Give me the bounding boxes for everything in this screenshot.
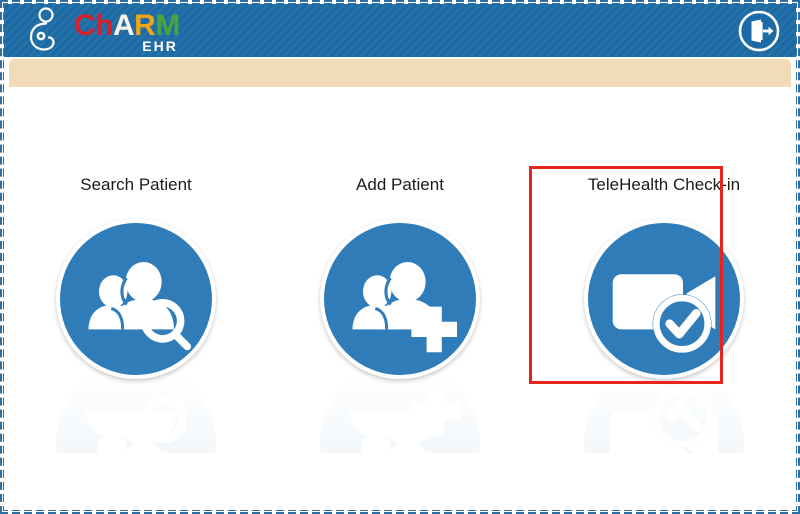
logo-wordmark: ChARM EHR — [74, 11, 180, 53]
tile-label-add-patient: Add Patient — [356, 175, 444, 195]
logo-part-ch: Ch — [74, 9, 113, 42]
tile-label-telehealth-checkin: TeleHealth Check-in — [588, 175, 740, 195]
tile-grid: Search Patient — [4, 87, 796, 447]
accent-strip — [9, 59, 791, 87]
logo-part-a: A — [113, 9, 134, 42]
tile-icon-search-patient-wrap[interactable] — [56, 219, 216, 379]
app-logo[interactable]: ChARM EHR — [26, 6, 180, 54]
tile-telehealth-checkin[interactable]: TeleHealth Check-in — [532, 87, 796, 447]
main-content: Search Patient — [4, 87, 796, 510]
tile-search-patient[interactable]: Search Patient — [4, 87, 268, 447]
logout-door-arrow-icon — [738, 10, 780, 52]
tile-label-search-patient: Search Patient — [80, 175, 192, 195]
tile-icon-add-patient-wrap[interactable] — [320, 219, 480, 379]
charm-stethoscope-person-icon — [26, 6, 70, 54]
tile-icon-telehealth-wrap[interactable] — [584, 219, 744, 379]
telehealth-video-check-icon — [584, 219, 744, 379]
search-patient-icon — [56, 219, 216, 379]
application-window: ChARM EHR Search Patient — [0, 0, 800, 514]
tile-add-patient[interactable]: Add Patient — [268, 87, 532, 447]
logout-button[interactable] — [738, 10, 780, 52]
add-patient-icon — [320, 219, 480, 379]
app-header: ChARM EHR — [4, 4, 796, 57]
